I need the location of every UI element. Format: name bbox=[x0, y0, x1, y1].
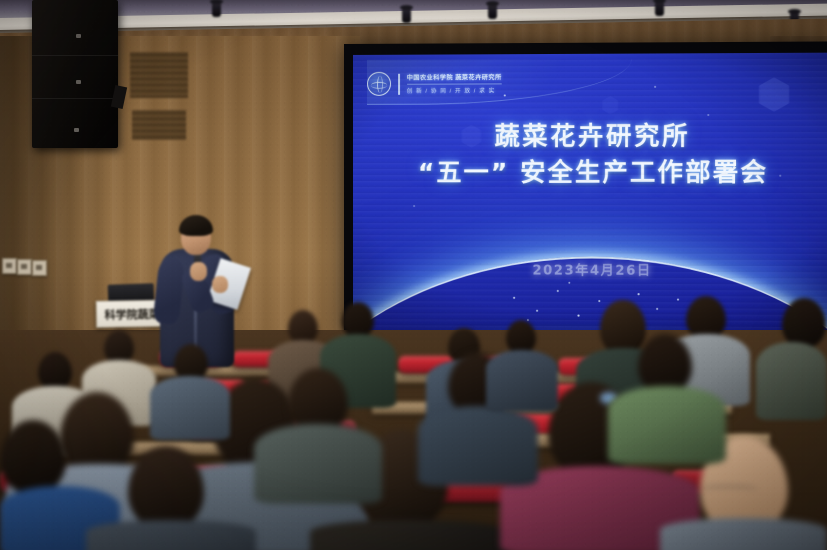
audience-torso bbox=[756, 342, 827, 420]
presenter-hand bbox=[190, 262, 207, 281]
wall-vent-grille bbox=[132, 110, 186, 140]
projection-screen-bezel: 中国农业科学院 蔬菜花卉研究所 创 新 / 协 同 / 开 放 / 求 实 蔬菜… bbox=[344, 41, 827, 346]
ceiling-spotlight-icon bbox=[488, 4, 497, 19]
audience-head bbox=[600, 300, 646, 354]
wall-socket[interactable] bbox=[17, 259, 32, 275]
wall-socket[interactable] bbox=[2, 258, 17, 274]
logo-tagline: 创 新 / 协 同 / 开 放 / 求 实 bbox=[407, 84, 502, 95]
slide-logo-header: 中国农业科学院 蔬菜花卉研究所 创 新 / 协 同 / 开 放 / 求 实 bbox=[367, 67, 619, 100]
hex-glow-decoration bbox=[759, 77, 790, 112]
audience-torso bbox=[608, 386, 726, 464]
audience-torso bbox=[486, 350, 558, 412]
audience-head bbox=[342, 302, 374, 338]
pa-speaker bbox=[32, 0, 118, 148]
ceiling-spotlight-icon bbox=[212, 2, 221, 17]
slide-title: 蔬菜花卉研究所 “五一” 安全生产工作部署会 bbox=[353, 120, 827, 188]
audience-head bbox=[38, 352, 72, 390]
star-speck bbox=[413, 205, 415, 207]
audience-head bbox=[104, 330, 134, 364]
logo-org-name: 中国农业科学院 蔬菜花卉研究所 bbox=[407, 73, 502, 82]
logo-divider bbox=[398, 73, 400, 94]
conference-room-photo: 中国农业科学院 蔬菜花卉研究所 创 新 / 协 同 / 开 放 / 求 实 蔬菜… bbox=[0, 0, 827, 550]
audience-head bbox=[782, 298, 826, 348]
audience-head bbox=[638, 334, 692, 394]
audience-torso bbox=[310, 520, 510, 550]
star-speck bbox=[707, 114, 709, 116]
projection-screen: 中国农业科学院 蔬菜花卉研究所 创 新 / 协 同 / 开 放 / 求 实 蔬菜… bbox=[353, 53, 827, 341]
star-speck bbox=[654, 86, 656, 88]
audience-head bbox=[0, 420, 66, 494]
wall-socket[interactable] bbox=[32, 260, 47, 276]
presenter-hand bbox=[212, 276, 228, 293]
ceiling-spotlight-icon bbox=[655, 1, 664, 16]
audience-head bbox=[128, 446, 204, 530]
audience-head bbox=[506, 320, 536, 354]
audience-torso bbox=[418, 406, 538, 486]
ceiling-spotlight-icon bbox=[402, 8, 411, 23]
audience-torso bbox=[86, 520, 256, 550]
globe-logo-icon bbox=[367, 72, 391, 96]
audience-torso bbox=[150, 376, 230, 440]
eyeglasses bbox=[700, 486, 758, 496]
wall-vent-grille bbox=[130, 52, 188, 98]
audience-head bbox=[288, 310, 318, 344]
audience-torso bbox=[254, 424, 382, 504]
slide-title-line-2: “五一” 安全生产工作部署会 bbox=[353, 156, 827, 188]
slide-title-line-1: 蔬菜花卉研究所 bbox=[353, 120, 827, 153]
audience-torso bbox=[660, 518, 827, 550]
